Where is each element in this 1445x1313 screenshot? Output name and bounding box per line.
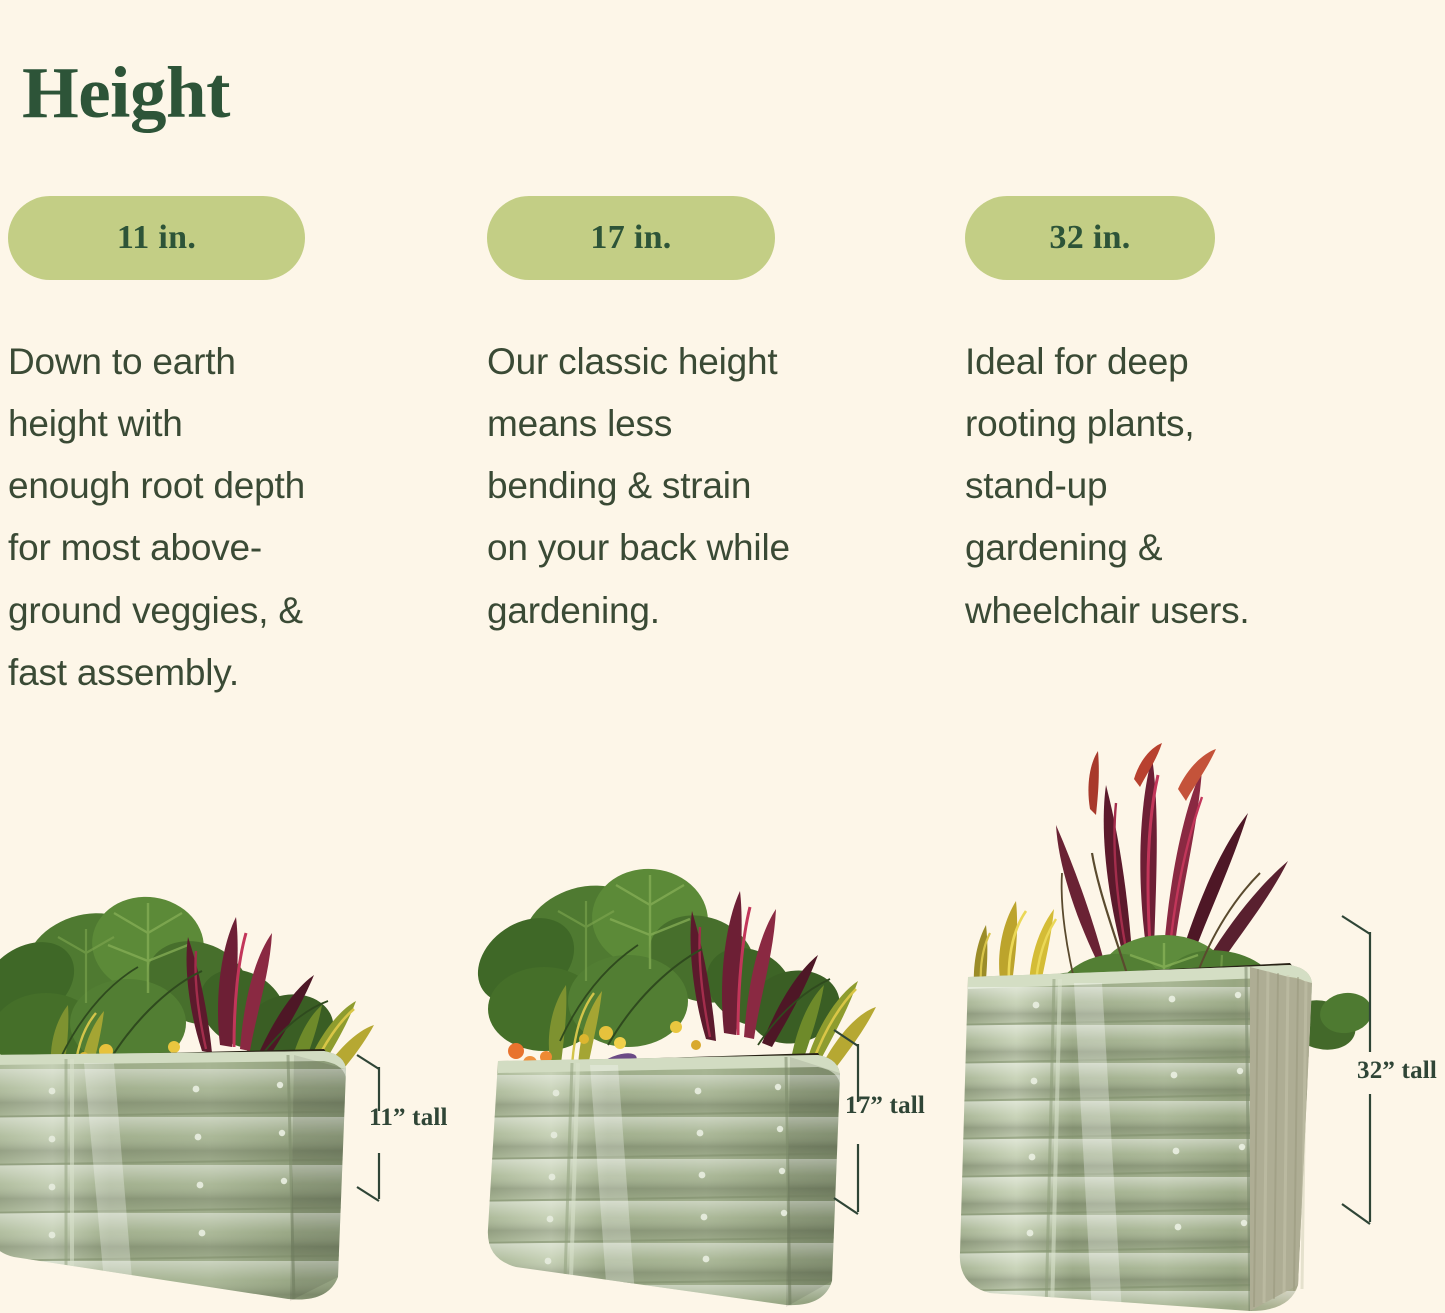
dimension-label-17in: 17” tall: [845, 1092, 925, 1120]
planter-image-11in: [0, 833, 388, 1313]
height-option-32in: 32 in. Ideal for deep rooting plants, st…: [965, 196, 1385, 679]
badge-height-11in[interactable]: 11 in.: [8, 196, 305, 280]
planter-illustration-11in: [0, 833, 388, 1313]
description-11in: Down to earth height with enough root de…: [8, 331, 438, 704]
dimension-label-32in: 32” tall: [1357, 1057, 1437, 1085]
planter-illustration-32in: [950, 733, 1370, 1313]
planter-body-17in: [478, 1055, 878, 1313]
height-comparison-page: Height 11 in. Down to earth height with …: [0, 0, 1445, 1313]
height-option-11in: 11 in. Down to earth height with enough …: [8, 196, 438, 741]
page-title: Height: [22, 53, 230, 133]
dimension-line-11in: [355, 1049, 401, 1221]
dimension-label-11in: 11” tall: [369, 1104, 448, 1132]
height-option-17in: 17 in. Our classic height means less ben…: [487, 196, 907, 679]
planter-illustration-17in: [468, 793, 888, 1313]
planter-body-11in: [0, 1051, 378, 1309]
planter-body-32in: [950, 965, 1350, 1313]
planter-image-17in: [468, 793, 888, 1313]
description-17in: Our classic height means less bending & …: [487, 331, 907, 642]
badge-height-32in[interactable]: 32 in.: [965, 196, 1215, 280]
planter-image-32in: [950, 733, 1370, 1313]
dimension-line-17in: [832, 1024, 878, 1236]
badge-height-17in[interactable]: 17 in.: [487, 196, 775, 280]
dimension-line-32in: [1340, 912, 1392, 1264]
description-32in: Ideal for deep rooting plants, stand-up …: [965, 331, 1385, 642]
